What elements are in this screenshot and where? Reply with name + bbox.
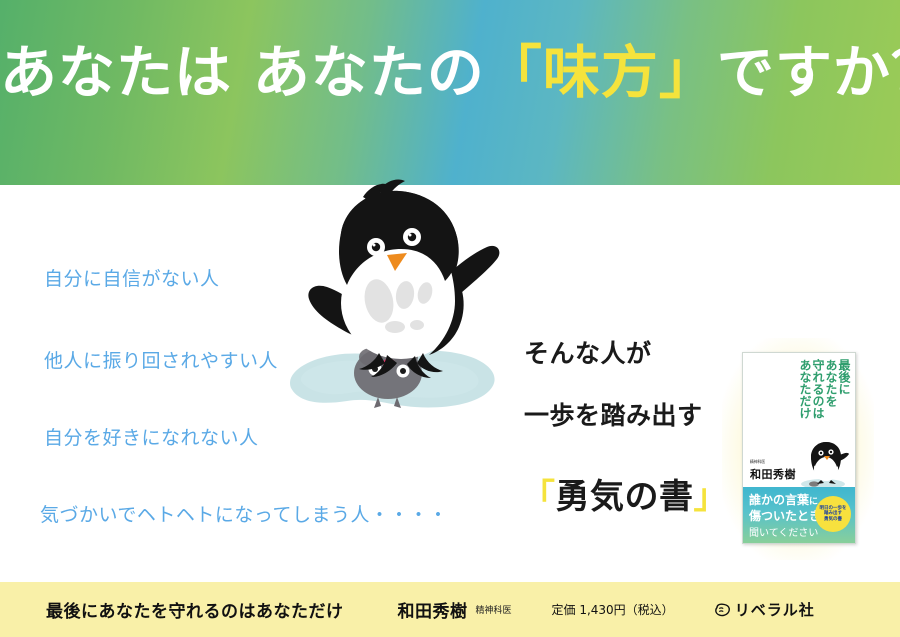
- list-item: 自分に自信がない人: [44, 268, 220, 291]
- footer-publisher-name: リベラル社: [735, 599, 815, 620]
- callout-line-2: 一歩を踏み出す: [524, 396, 703, 432]
- book-author-name: 和田秀樹: [750, 466, 796, 482]
- page-title: あなたは あなたの「味方」ですか？: [0, 44, 900, 104]
- footer-content: 最後にあなたを守れるのはあなただけ 和田秀樹 精神科医 定価 1,430円（税込…: [46, 582, 815, 637]
- penguin-illustration: [275, 175, 540, 425]
- title-part-1: あなたは あなたの: [0, 40, 485, 106]
- book-author-role: 精神科医: [750, 459, 765, 465]
- penguin-svg: [275, 175, 540, 425]
- penguin-body-icon: [308, 179, 499, 378]
- obi-line-1: 誰かの言葉に: [749, 491, 818, 508]
- advertisement-poster: あなたは あなたの「味方」ですか？ 自分に自信がない人 他人に振り回されやすい人…: [0, 0, 900, 637]
- list-item: 自分を好きになれない人: [44, 427, 259, 450]
- badge-line-3: 勇気の書: [824, 517, 842, 522]
- liberal-sha-logo-icon: [714, 603, 731, 617]
- callout-emphasis: 勇気の書: [556, 477, 694, 517]
- footer-price: 定価 1,430円（税込）: [552, 601, 674, 618]
- list-item: 他人に振り回されやすい人: [44, 350, 278, 373]
- callout-line-3: 「勇気の書」: [521, 469, 728, 518]
- open-bracket: 「: [521, 477, 556, 517]
- footer-author-role: 精神科医: [476, 603, 512, 616]
- callout-line-1: そんな人が: [524, 334, 652, 370]
- header-banner: あなたは あなたの「味方」ですか？: [0, 0, 900, 185]
- book-penguin-icon: [797, 439, 851, 491]
- footer-bar: 最後にあなたを守れるのはあなただけ 和田秀樹 精神科医 定価 1,430円（税込…: [0, 582, 900, 637]
- book-cover[interactable]: 最後に あなたを 守れるのは あなただけ: [742, 352, 856, 544]
- title-highlight: 「味方」: [485, 40, 717, 106]
- footer-book-title: 最後にあなたを守れるのはあなただけ: [46, 597, 344, 622]
- footer-publisher: リベラル社: [714, 599, 815, 620]
- obi-badge: 明日の一歩を 踏み出す 勇気の書: [815, 496, 851, 532]
- book-obi-band: 誰かの言葉に 傷ついたときに 聞いてください 明日の一歩を 踏み出す 勇気の書: [743, 487, 855, 543]
- footer-author: 和田秀樹: [398, 597, 468, 622]
- title-part-2: ですか？: [717, 40, 900, 106]
- list-item: 気づかいでヘトヘトになってしまう人・・・・: [40, 504, 448, 527]
- obi-line-3: 聞いてください: [749, 524, 818, 539]
